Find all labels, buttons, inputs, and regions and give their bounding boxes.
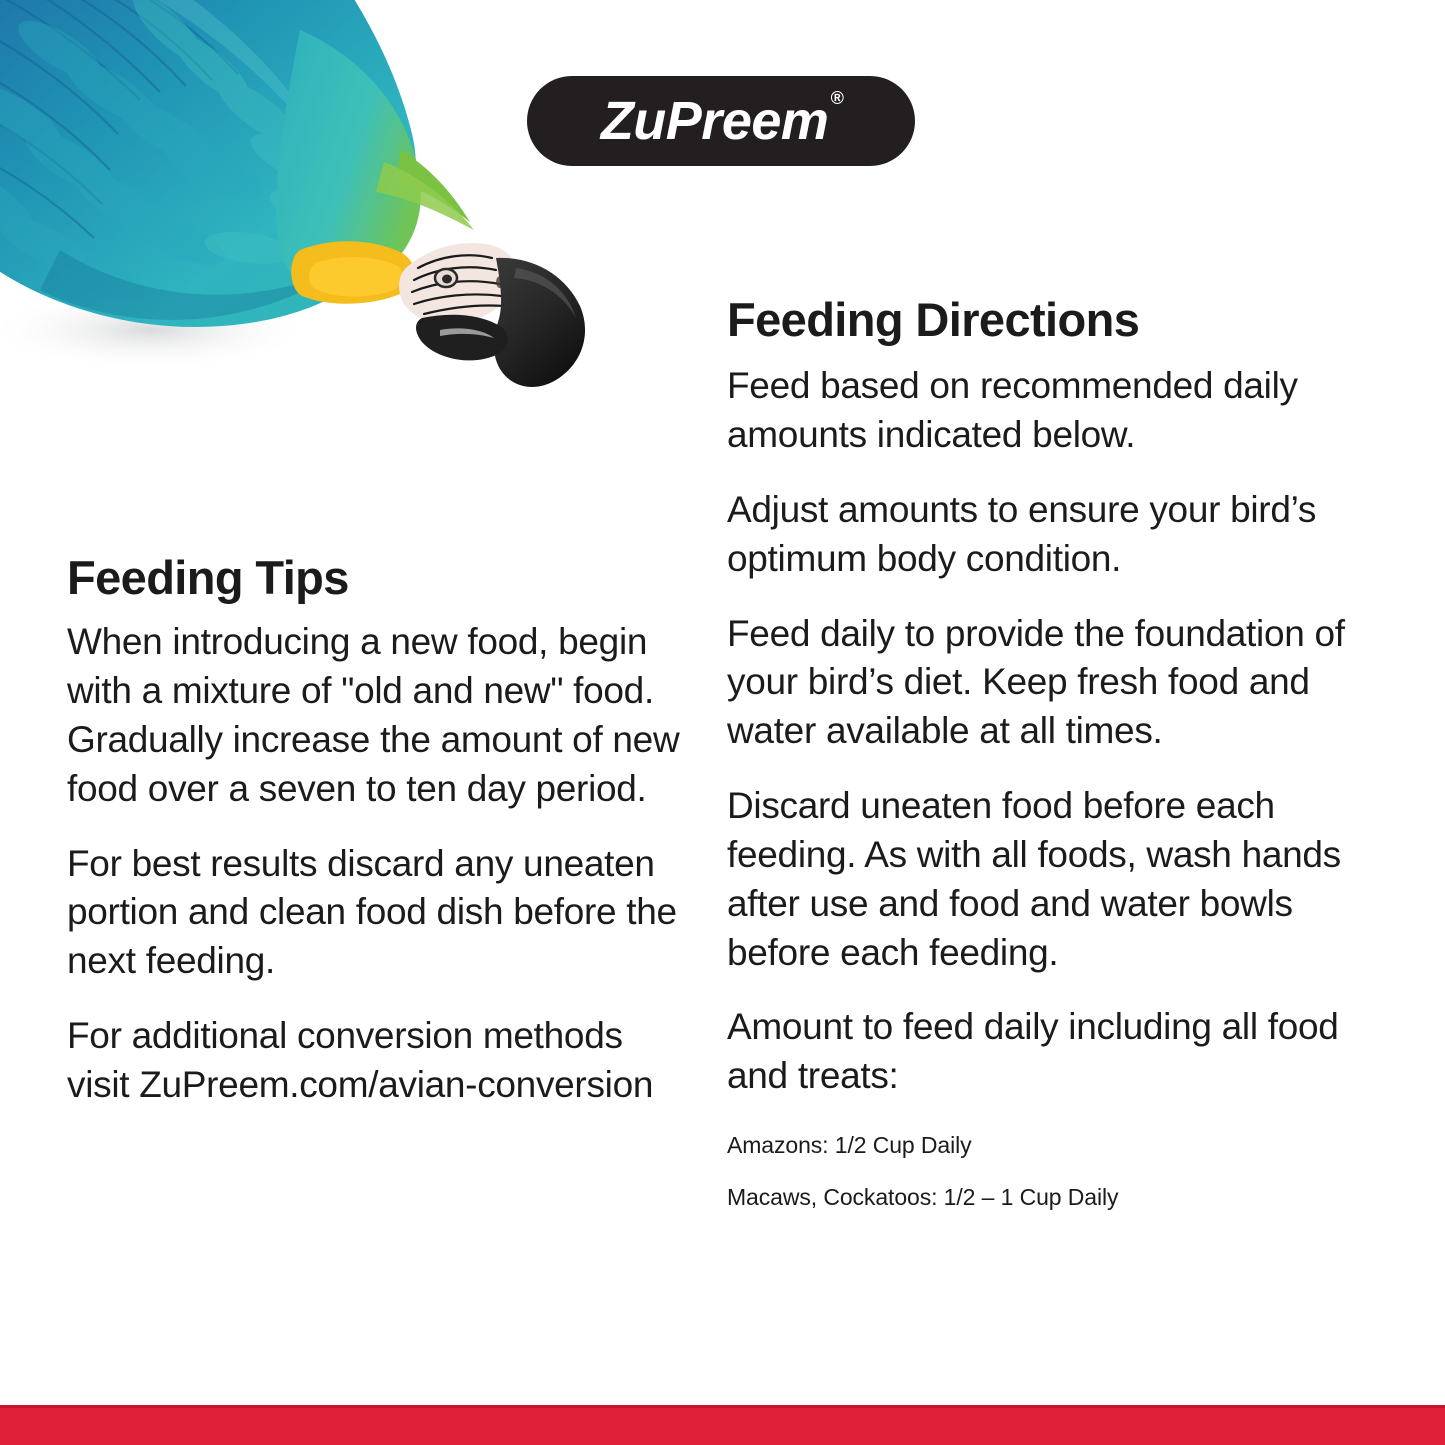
zupreem-logo: ZuPreem® (527, 76, 915, 166)
feeding-directions-paragraph-4: Discard uneaten food before each feeding… (727, 782, 1392, 977)
footer-bar-top-edge (0, 1405, 1445, 1408)
feeding-tips-section: Feeding Tips When introducing a new food… (67, 553, 687, 1110)
macaw-illustration (0, 0, 620, 400)
registered-trademark-icon: ® (830, 88, 843, 108)
feeding-directions-paragraph-1: Feed based on recommended daily amounts … (727, 362, 1392, 460)
amount-row-amazons: Amazons: 1/2 Cup Daily (727, 1131, 1392, 1161)
amount-row-macaws-cockatoos: Macaws, Cockatoos: 1/2 – 1 Cup Daily (727, 1183, 1392, 1213)
feeding-tips-paragraph-3: For additional conversion methods visit … (67, 1012, 687, 1110)
feeding-directions-paragraph-2: Adjust amounts to ensure your bird’s opt… (727, 486, 1392, 584)
feeding-tips-paragraph-2: For best results discard any uneaten por… (67, 840, 687, 986)
macaw-photo (0, 0, 620, 400)
feeding-directions-paragraph-3: Feed daily to provide the foundation of … (727, 610, 1392, 756)
product-info-panel: ZuPreem® Feeding Tips When introducing a… (0, 0, 1445, 1445)
daily-amounts-list: Amazons: 1/2 Cup Daily Macaws, Cockatoos… (727, 1131, 1392, 1213)
logo-wordmark: ZuPreem® (601, 94, 841, 148)
feeding-tips-paragraph-1: When introducing a new food, begin with … (67, 618, 687, 813)
feeding-directions-section: Feeding Directions Feed based on recomme… (727, 295, 1392, 1213)
face-patch (399, 243, 517, 324)
feeding-directions-paragraph-5: Amount to feed daily including all food … (727, 1003, 1392, 1101)
feeding-tips-heading: Feeding Tips (67, 553, 687, 602)
feeding-directions-heading: Feeding Directions (727, 295, 1392, 344)
footer-accent-bar (0, 1405, 1445, 1445)
